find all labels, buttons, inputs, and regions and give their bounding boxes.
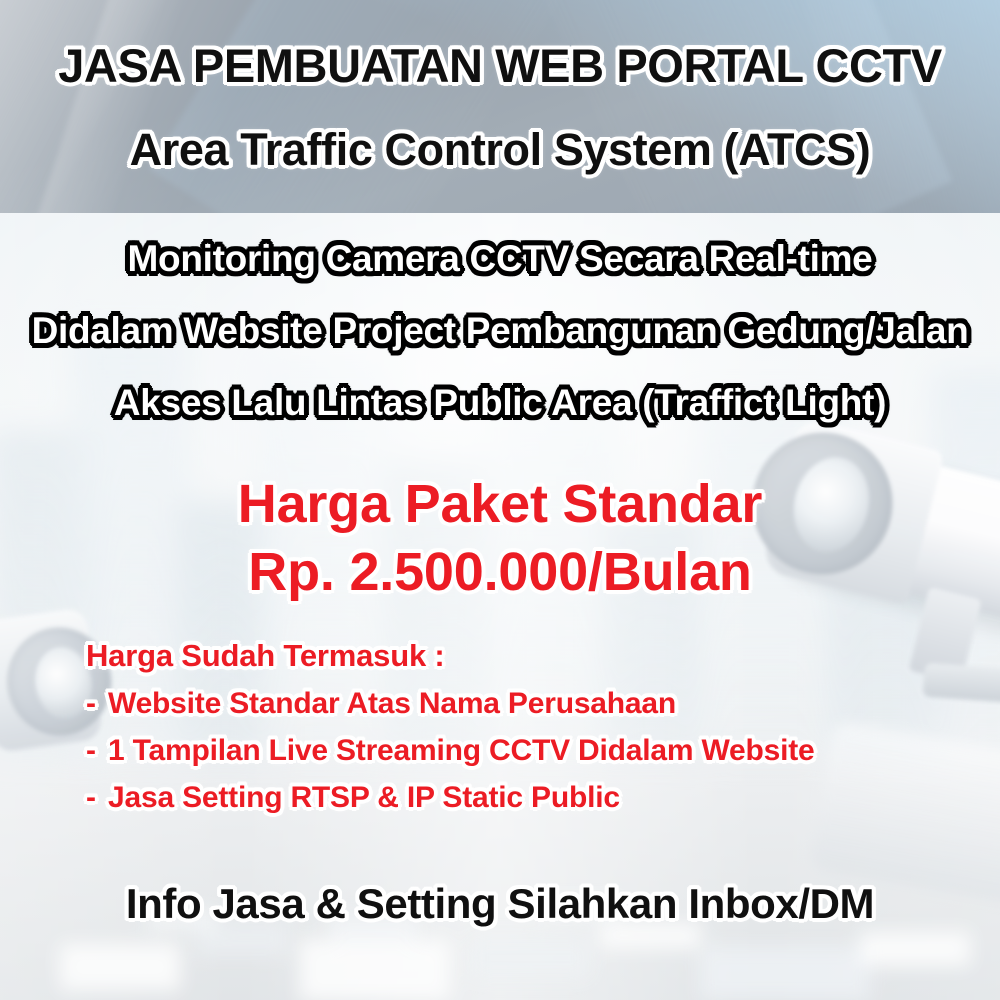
bullet-marker-icon: - — [86, 734, 108, 768]
included-list-title: Harga Sudah Termasuk : — [86, 638, 815, 674]
promo-poster: JASA PEMBUATAN WEB PORTAL CCTV Area Traf… — [0, 0, 1000, 1000]
price-label: Harga Paket Standar — [0, 477, 1000, 531]
included-list: Harga Sudah Termasuk : - Website Standar… — [86, 638, 815, 828]
page-subtitle: Area Traffic Control System (ATCS) — [0, 127, 1000, 172]
included-item-label: Website Standar Atas Nama Perusahaan — [108, 687, 676, 721]
list-item: - Jasa Setting RTSP & IP Static Public — [86, 781, 815, 815]
bullet-marker-icon: - — [86, 781, 108, 815]
list-item: - 1 Tampilan Live Streaming CCTV Didalam… — [86, 734, 815, 768]
price-amount: Rp. 2.500.000/Bulan — [0, 545, 1000, 599]
feature-line-1: Monitoring Camera CCTV Secara Real-time — [0, 240, 1000, 277]
included-item-label: 1 Tampilan Live Streaming CCTV Didalam W… — [108, 734, 815, 768]
included-item-label: Jasa Setting RTSP & IP Static Public — [108, 781, 620, 815]
bullet-marker-icon: - — [86, 687, 108, 721]
feature-line-2: Didalam Website Project Pembangunan Gedu… — [0, 312, 1000, 349]
footer-call-to-action: Info Jasa & Setting Silahkan Inbox/DM — [0, 883, 1000, 925]
list-item: - Website Standar Atas Nama Perusahaan — [86, 687, 815, 721]
page-title: JASA PEMBUATAN WEB PORTAL CCTV — [0, 42, 1000, 89]
feature-line-3: Akses Lalu Lintas Public Area (Traffict … — [0, 384, 1000, 421]
poster-content: JASA PEMBUATAN WEB PORTAL CCTV Area Traf… — [0, 0, 1000, 1000]
